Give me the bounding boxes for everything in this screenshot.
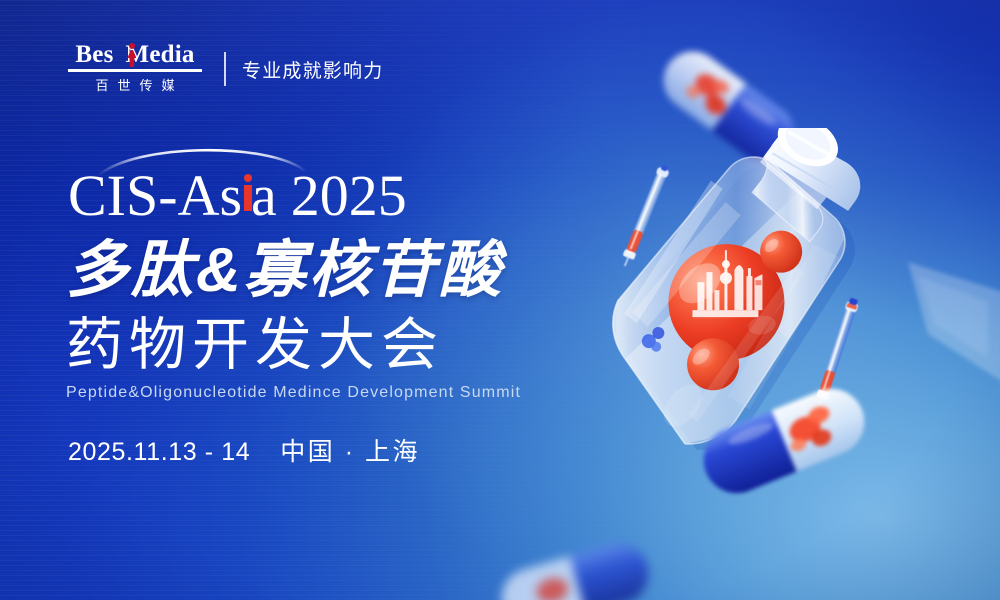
brand-name-prefix: CIS-As bbox=[68, 163, 242, 228]
event-title: CIS-Asa 2025 bbox=[68, 166, 407, 226]
headline-primary: 多肽&寡核苷酸 bbox=[66, 236, 504, 306]
red-accent-stem bbox=[244, 185, 252, 211]
headline-english: Peptide&Oligonucleotide Medince Developm… bbox=[66, 383, 521, 403]
red-accent-dot bbox=[244, 174, 252, 182]
event-details: 2025.11.13 - 14 中国 · 上海 bbox=[68, 437, 420, 467]
logo-english-before: Bes bbox=[75, 41, 113, 68]
conference-banner: BesMedia 百世传媒 专业成就影响力 CIS-Asa bbox=[0, 0, 1000, 600]
logo-mark[interactable]: BesMedia 百世传媒 bbox=[68, 42, 202, 96]
event-location: 中国 · 上海 bbox=[280, 437, 420, 467]
brand-name: CIS-Asa bbox=[68, 166, 277, 226]
brand-tagline: 专业成就影响力 bbox=[242, 56, 383, 83]
logo-chinese-name: 百世传媒 bbox=[86, 75, 183, 94]
event-year: 2025 bbox=[291, 166, 407, 226]
vertical-divider bbox=[224, 52, 226, 86]
logo-english-name: BesMedia bbox=[75, 42, 194, 68]
brand-name-suffix: a bbox=[251, 163, 277, 228]
brand-logo[interactable]: BesMedia 百世传媒 专业成就影响力 bbox=[68, 44, 383, 94]
headline-secondary: 药物开发大会 bbox=[66, 312, 444, 378]
person-figure-icon bbox=[127, 43, 136, 67]
logo-underline bbox=[68, 69, 202, 72]
event-date: 2025.11.13 - 14 bbox=[68, 437, 250, 467]
